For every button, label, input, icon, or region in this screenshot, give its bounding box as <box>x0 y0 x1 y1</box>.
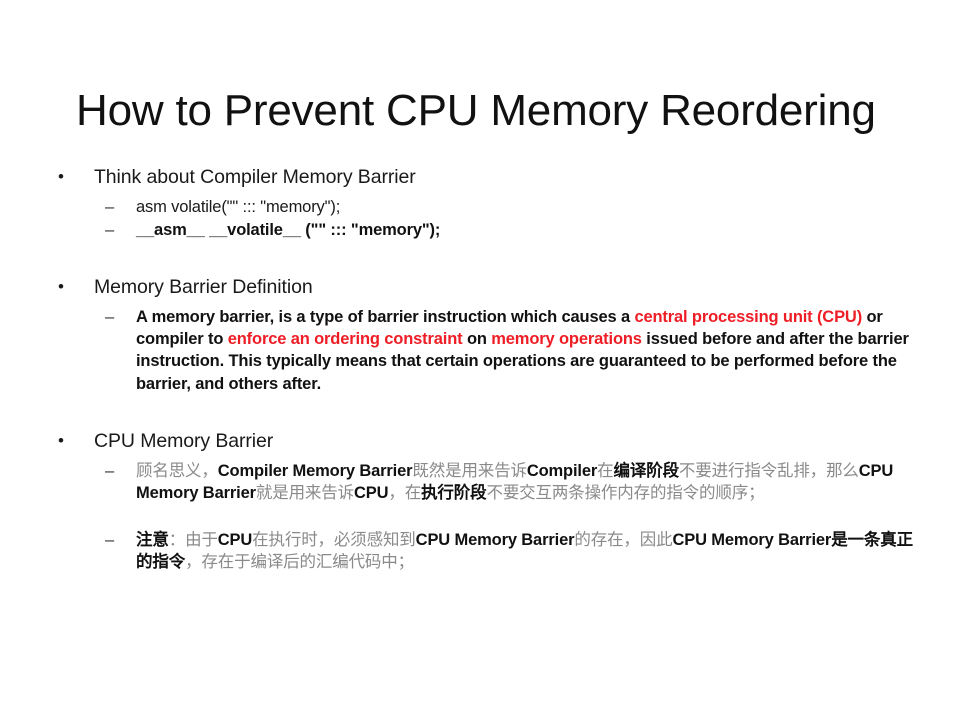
text-run: asm volatile("" ::: "memory"); <box>136 198 340 216</box>
bullet-group: •Memory Barrier Definition–A memory barr… <box>50 275 920 429</box>
text-run: central processing unit (CPU) <box>634 308 862 326</box>
text-run: A memory barrier, is a type of <box>136 308 367 326</box>
text-run: barrier instruction <box>367 308 506 326</box>
slide-canvas: How to Prevent CPU Memory Reordering •Th… <box>0 0 960 720</box>
bullet-dot-icon: • <box>58 166 64 188</box>
bullet-group: •Think about Compiler Memory Barrier–asm… <box>50 165 920 275</box>
bullet-level1-label: Memory Barrier Definition <box>94 276 313 298</box>
text-run: 不要进行指令乱排，那么 <box>679 461 859 480</box>
text-run: __asm__ __volatile__ ("" ::: "memory"); <box>136 221 440 239</box>
text-run: Compiler <box>527 462 597 480</box>
text-run: CPU Memory Barrier <box>416 531 575 549</box>
text-run: ，在 <box>388 483 421 502</box>
bullet-level2: –A memory barrier, is a type of barrier … <box>50 306 920 395</box>
bullet-level1: •Memory Barrier Definition <box>50 275 920 300</box>
spacer <box>50 395 920 429</box>
spacer <box>50 241 920 275</box>
bullet-level1-label: CPU Memory Barrier <box>94 430 273 452</box>
text-run: 在 <box>597 461 613 480</box>
bullet-group: •CPU Memory Barrier–顾名思义，Compiler Memory… <box>50 429 920 585</box>
text-run: 的存在，因此 <box>574 530 672 549</box>
bullet-level1: •Think about Compiler Memory Barrier <box>50 165 920 190</box>
text-run: 就是用来告诉 <box>256 483 354 502</box>
spacer <box>50 573 920 585</box>
slide-body: •Think about Compiler Memory Barrier–asm… <box>50 165 920 585</box>
text-run: Compiler Memory Barrier <box>218 462 413 480</box>
text-run: ： <box>169 530 185 549</box>
bullet-dash-icon: – <box>105 196 114 218</box>
text-run: 注意 <box>136 530 169 549</box>
bullet-level2: –asm volatile("" ::: "memory"); <box>50 196 920 218</box>
text-run: ，存在于编译后的汇编代码中； <box>185 552 414 571</box>
text-run: 在执行时，必须感知到 <box>252 530 416 549</box>
bullet-dash-icon: – <box>105 219 114 241</box>
bullet-level1: •CPU Memory Barrier <box>50 429 920 454</box>
text-run: CPU Memory Barrier <box>672 531 831 549</box>
text-run: 执行阶段 <box>421 483 486 502</box>
bullet-level1-label: Think about Compiler Memory Barrier <box>94 166 416 188</box>
bullet-dash-icon: – <box>105 306 114 328</box>
bullet-dot-icon: • <box>58 430 64 452</box>
bullet-dash-icon: – <box>105 460 114 482</box>
text-run: 不要交互两条操作内存的指令的顺序； <box>486 483 764 502</box>
text-run: CPU <box>218 531 252 549</box>
text-run: enforce an ordering constraint <box>228 330 463 348</box>
text-run: CPU <box>354 484 388 502</box>
bullet-dot-icon: • <box>58 276 64 298</box>
text-run: which causes a <box>507 308 635 326</box>
bullet-level2: –顾名思义，Compiler Memory Barrier既然是用来告诉Comp… <box>50 460 920 504</box>
bullet-dash-icon: – <box>105 529 114 551</box>
text-run: 顾名思义， <box>136 461 218 480</box>
text-run: 编译阶段 <box>614 461 679 480</box>
bullet-level2: –__asm__ __volatile__ ("" ::: "memory"); <box>50 219 920 241</box>
bullet-level2: –注意：由于CPU在执行时，必须感知到CPU Memory Barrier的存在… <box>50 529 920 573</box>
text-run: on <box>463 330 492 348</box>
spacer <box>50 505 920 529</box>
text-run: 既然是用来告诉 <box>412 461 526 480</box>
text-run: memory operations <box>491 330 642 348</box>
text-run: 由于 <box>185 530 218 549</box>
page-title: How to Prevent CPU Memory Reordering <box>76 87 936 135</box>
